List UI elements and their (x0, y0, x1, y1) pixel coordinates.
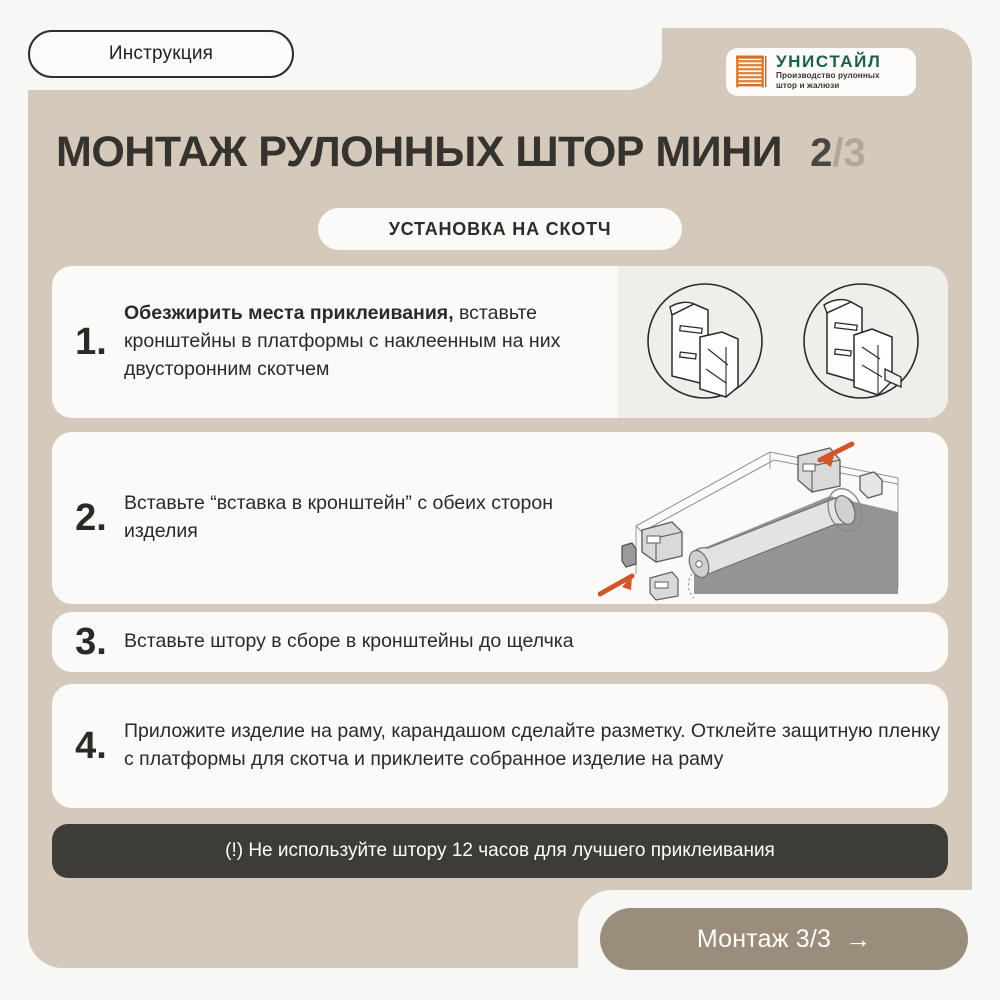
page-counter-current: 2 (810, 131, 832, 175)
step-text-1-bold: Обезжирить места приклеивания, (124, 302, 454, 324)
next-page-button[interactable]: Монтаж 3/3 → (600, 908, 968, 970)
arrow-right-icon: → (845, 926, 871, 952)
step-card-1: 1. Обезжирить места приклеивания, вставь… (52, 266, 948, 418)
step-number-2: 2. (52, 432, 124, 604)
brand-logo: УНИСТАЙЛ Производство рулонных штор и жа… (726, 48, 916, 96)
page-title: МОНТАЖ РУЛОННЫХ ШТОР МИНИ (56, 128, 782, 177)
step-figure-2 (588, 432, 948, 604)
step-figure-1 (618, 266, 948, 418)
step-text-4-wrap: Приложите изделие на раму, карандашом сд… (124, 684, 948, 808)
blinds-icon (734, 54, 768, 90)
step-card-2: 2. Вставьте “вставка в кронштейн” с обеи… (52, 432, 948, 604)
warning-banner: (!) Не используйте штору 12 часов для лу… (52, 824, 948, 878)
page-title-row: МОНТАЖ РУЛОННЫХ ШТОР МИНИ 2/3 (56, 128, 956, 177)
page-counter: 2/3 (810, 131, 866, 176)
step-number-4: 4. (52, 684, 124, 808)
warning-text: (!) Не используйте штору 12 часов для лу… (225, 840, 775, 862)
instruction-badge: Инструкция (28, 30, 294, 78)
bracket-platform-circle-diagram-b (786, 277, 936, 407)
step-text-1: Обезжирить места приклеивания, вставьте … (124, 300, 610, 383)
step-card-3: 3. Вставьте штору в сборе в кронштейны д… (52, 612, 948, 672)
next-page-button-label: Монтаж 3/3 (697, 925, 831, 954)
step-text-2: Вставьте “вставка в кронштейн” с обеих с… (124, 490, 588, 545)
brand-subtitle-line1: Производство рулонных (776, 71, 881, 81)
step-text-4: Приложите изделие на раму, карандашом сд… (124, 718, 948, 773)
page-counter-total: /3 (832, 131, 865, 175)
step-text-3: Вставьте штору в сборе в кронштейны до щ… (124, 628, 574, 656)
step-text-2-wrap: Вставьте “вставка в кронштейн” с обеих с… (124, 432, 588, 604)
roller-blind-isometric-diagram (598, 434, 938, 602)
instruction-badge-label: Инструкция (109, 43, 213, 65)
step-text-1-wrap: Обезжирить места приклеивания, вставьте … (124, 266, 618, 418)
section-subtitle-badge: УСТАНОВКА НА СКОТЧ (318, 208, 682, 250)
instruction-page: Инструкция УНИСТАЙЛ Производство рулонны… (0, 0, 1000, 1000)
brand-logo-text: УНИСТАЙЛ Производство рулонных штор и жа… (776, 53, 881, 91)
step-text-3-wrap: Вставьте штору в сборе в кронштейны до щ… (124, 612, 948, 672)
pointer-arrow-left (600, 576, 632, 594)
step-number-3: 3. (52, 612, 124, 672)
step-card-4: 4. Приложите изделие на раму, карандашом… (52, 684, 948, 808)
step-number-1: 1. (52, 266, 124, 418)
brand-name: УНИСТАЙЛ (776, 53, 881, 71)
section-subtitle-label: УСТАНОВКА НА СКОТЧ (389, 219, 612, 240)
brand-subtitle-line2: штор и жалюзи (776, 81, 881, 91)
bracket-platform-circle-diagram-a (630, 277, 780, 407)
